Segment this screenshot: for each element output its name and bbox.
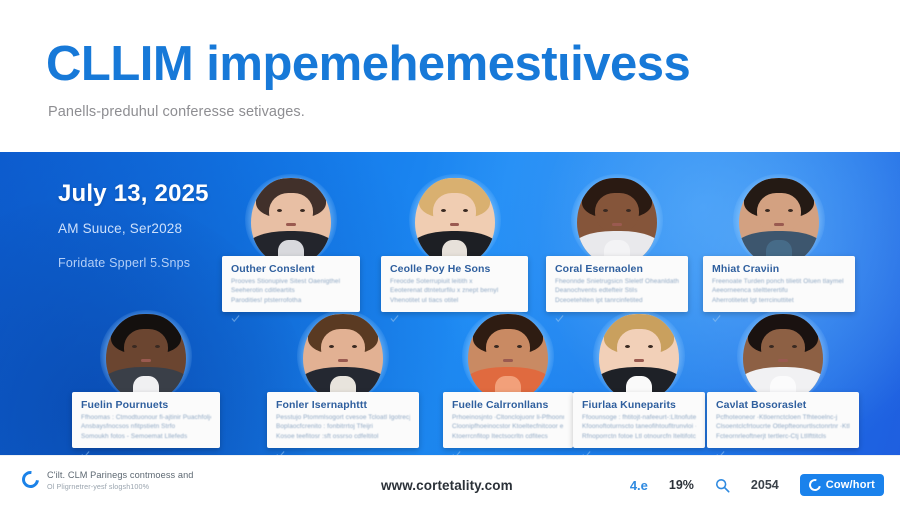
speaker-detail-3: Kosoe teefitosr :sft ossrso cdfeltitol (276, 433, 410, 440)
page-title: CLLIM impemehemestιivess (46, 36, 690, 92)
footer-brand-line2: Ol Pligrnetrer-yesf slogsh100% (47, 482, 194, 492)
event-note: Foridate Spperl 5.Snps (58, 256, 209, 270)
speaker-detail-3: Vhenotitet ul tiacs otitel (390, 297, 519, 304)
footer-url[interactable]: www.cortetality.com (381, 478, 513, 493)
speaker-name: Outher Conslent (231, 263, 351, 275)
footer: C'ilt. CLM Parinegs contmoess and Ol Pli… (0, 455, 900, 506)
speaker-namecard: Fiurlaa KuneparitsFfoounsoge : fhtitojt-… (573, 392, 705, 448)
event-date: July 13, 2025 (58, 180, 209, 208)
speaker-detail-2: Ansbaysfnocsos nfitpstietn Strfo (81, 423, 211, 430)
speaker-avatar (577, 178, 657, 264)
speaker-avatar (415, 178, 495, 264)
speaker-namecard: Outher ConslentProoves Stionupive Sitest… (222, 256, 360, 312)
speaker-namecard: Fuelin PοurnuetsFfhoomas : Ctmodtuonour … (72, 392, 220, 448)
speaker-detail-1: Pesstujo Ptommlsogort cvesoe Tcloatl Igo… (276, 414, 410, 421)
footer-percent: 19% (669, 478, 694, 492)
spiral-icon (807, 477, 823, 493)
speaker-namecard: Caνlat BοsοrasletPcfhoteoneor ∙Ktloernct… (707, 392, 859, 448)
checkmark-icon (390, 314, 399, 323)
speaker-detail-2: Cloonipfhoeinocstor Ktoeltecfnitcoor eHf… (452, 423, 564, 430)
comment-button-label: Cow/hort (826, 479, 875, 491)
comment-button[interactable]: Cow/hort (800, 474, 884, 496)
speaker-name: Fiurlaa Kuneparits (582, 399, 696, 411)
speaker-name: Μhiat Craνiin (712, 263, 846, 275)
speaker-name: Fuelle Calrronllans (452, 399, 564, 411)
speaker-detail-3: Rfnoporrctn fotoe Ltl otnourcfn lteltifo… (582, 433, 696, 440)
footer-actions: 4.e 19% 2054 Cow/hort (630, 474, 884, 496)
speaker-detail-3: Dceoetehiten ipt tanrcinfetited (555, 297, 679, 304)
speaker-name: Fonler Isernaphttt (276, 399, 410, 411)
footer-count: 2054 (751, 478, 779, 492)
speaker-detail-2: Boplaocfcrenito : fonbitrrtoj Tfeijri (276, 423, 410, 430)
speaker-detail-1: Freenoate Turden ponch tilietit Oluen tl… (712, 278, 846, 285)
speaker-detail-2: Kfoonoftoturnscto taneofihtoufltrunvloi … (582, 423, 696, 430)
speaker-avatar (106, 314, 186, 400)
footer-ratio: 4.e (630, 478, 648, 493)
checkmark-icon (452, 450, 461, 456)
footer-brand-line1: C'ilt. CLM Parinegs contmoess and (47, 469, 194, 481)
checkmark-icon (716, 450, 725, 456)
page-subtitle: Panells-preduhul conferesse setivages. (48, 104, 305, 120)
speaker-namecard: Ceolle Poy Ηe SonsFreocde Soterrupiuit l… (381, 256, 528, 312)
speaker-detail-1: Prooves Stionupive Sitest Oaenigthel (231, 278, 351, 285)
speaker-detail-2: Eeoterenat dtnteturfilu x znept bernyl (390, 287, 519, 294)
checkmark-icon (81, 450, 90, 456)
header: CLLIM impemehemestιivess Panells-preduhu… (0, 0, 900, 152)
speaker-detail-2: Seeherotin cditleartits (231, 287, 351, 294)
speaker-detail-1: Fheonnde Snietrugsicn Sleletf Oheanldath… (555, 278, 679, 285)
speaker-detail-2: Deanochvents edtefteir Stils (555, 287, 679, 294)
speakers-stage: July 13, 2025 AM Suuce, Ser2028 Foridate… (0, 152, 900, 455)
checkmark-icon (231, 314, 240, 323)
speaker-avatar (599, 314, 679, 400)
speaker-detail-2: Aeeorneenca steltterertifu (712, 287, 846, 294)
speaker-avatar (251, 178, 331, 264)
event-time-location: AM Suuce, Ser2028 (58, 221, 209, 236)
speaker-detail-3: Ktoerrcnfitop Itectsocrltn cdfitecs (452, 433, 564, 440)
spiral-logo-icon (19, 468, 43, 492)
speaker-namecard: Fuelle CalrronllansPrhoeinosjnto ∙Cltonc… (443, 392, 573, 448)
speaker-detail-1: Ffhoomas : Ctmodtuonour fi-ajtinir Puach… (81, 414, 211, 421)
speaker-name: Ceolle Poy Ηe Sons (390, 263, 519, 275)
speaker-name: Coral Esernaolen (555, 263, 679, 275)
speaker-avatar (468, 314, 548, 400)
checkmark-icon (582, 450, 591, 456)
speaker-avatar (743, 314, 823, 400)
speaker-detail-3: Fcteornrleoftnerjt tertlerc-Ctj Ltllftti… (716, 433, 850, 440)
speaker-avatar (303, 314, 383, 400)
speaker-detail-2: Clsoentclcfrtoucrte Otlepfteonurtlsctonr… (716, 423, 850, 430)
speaker-detail-1: Prhoeinosjnto ∙Cltonclojuonr li-Pfhoonr-… (452, 414, 564, 421)
checkmark-icon (276, 450, 285, 456)
speaker-name: Fuelin Pοurnuets (81, 399, 211, 411)
speaker-avatar (739, 178, 819, 264)
speaker-name: Caνlat Bοsοraslet (716, 399, 850, 411)
speaker-detail-1: Pcfhoteoneor ∙Ktloernctcloen Tfhteoelnc-… (716, 414, 850, 421)
event-date-block: July 13, 2025 AM Suuce, Ser2028 Foridate… (58, 180, 209, 270)
speaker-detail-3: Parodities! ptsterrofotha (231, 297, 351, 304)
search-icon[interactable] (715, 478, 730, 493)
speaker-detail-1: Freocde Soterrupiuit leitith x (390, 278, 519, 285)
checkmark-icon (712, 314, 721, 323)
speaker-detail-3: Somoukh fotos - Semoemat Lllefeds (81, 433, 211, 440)
speaker-detail-3: Aherrotitetet lgt terrcinuttitet (712, 297, 846, 304)
speaker-namecard: Fonler IsernaphtttPesstujo Ptommlsogort … (267, 392, 419, 448)
footer-brand: C'ilt. CLM Parinegs contmoess and Ol Pli… (22, 469, 194, 492)
poster-page: CLLIM impemehemestιivess Panells-preduhu… (0, 0, 900, 506)
speaker-namecard: Μhiat CraνiinFreenoate Turden ponch tili… (703, 256, 855, 312)
checkmark-icon (555, 314, 564, 323)
speaker-detail-1: Ffoounsoge : fhtitojt-nafeeurt-:Lltnofut… (582, 414, 696, 421)
speaker-namecard: Coral EsernaolenFheonnde Snietrugsicn Sl… (546, 256, 688, 312)
